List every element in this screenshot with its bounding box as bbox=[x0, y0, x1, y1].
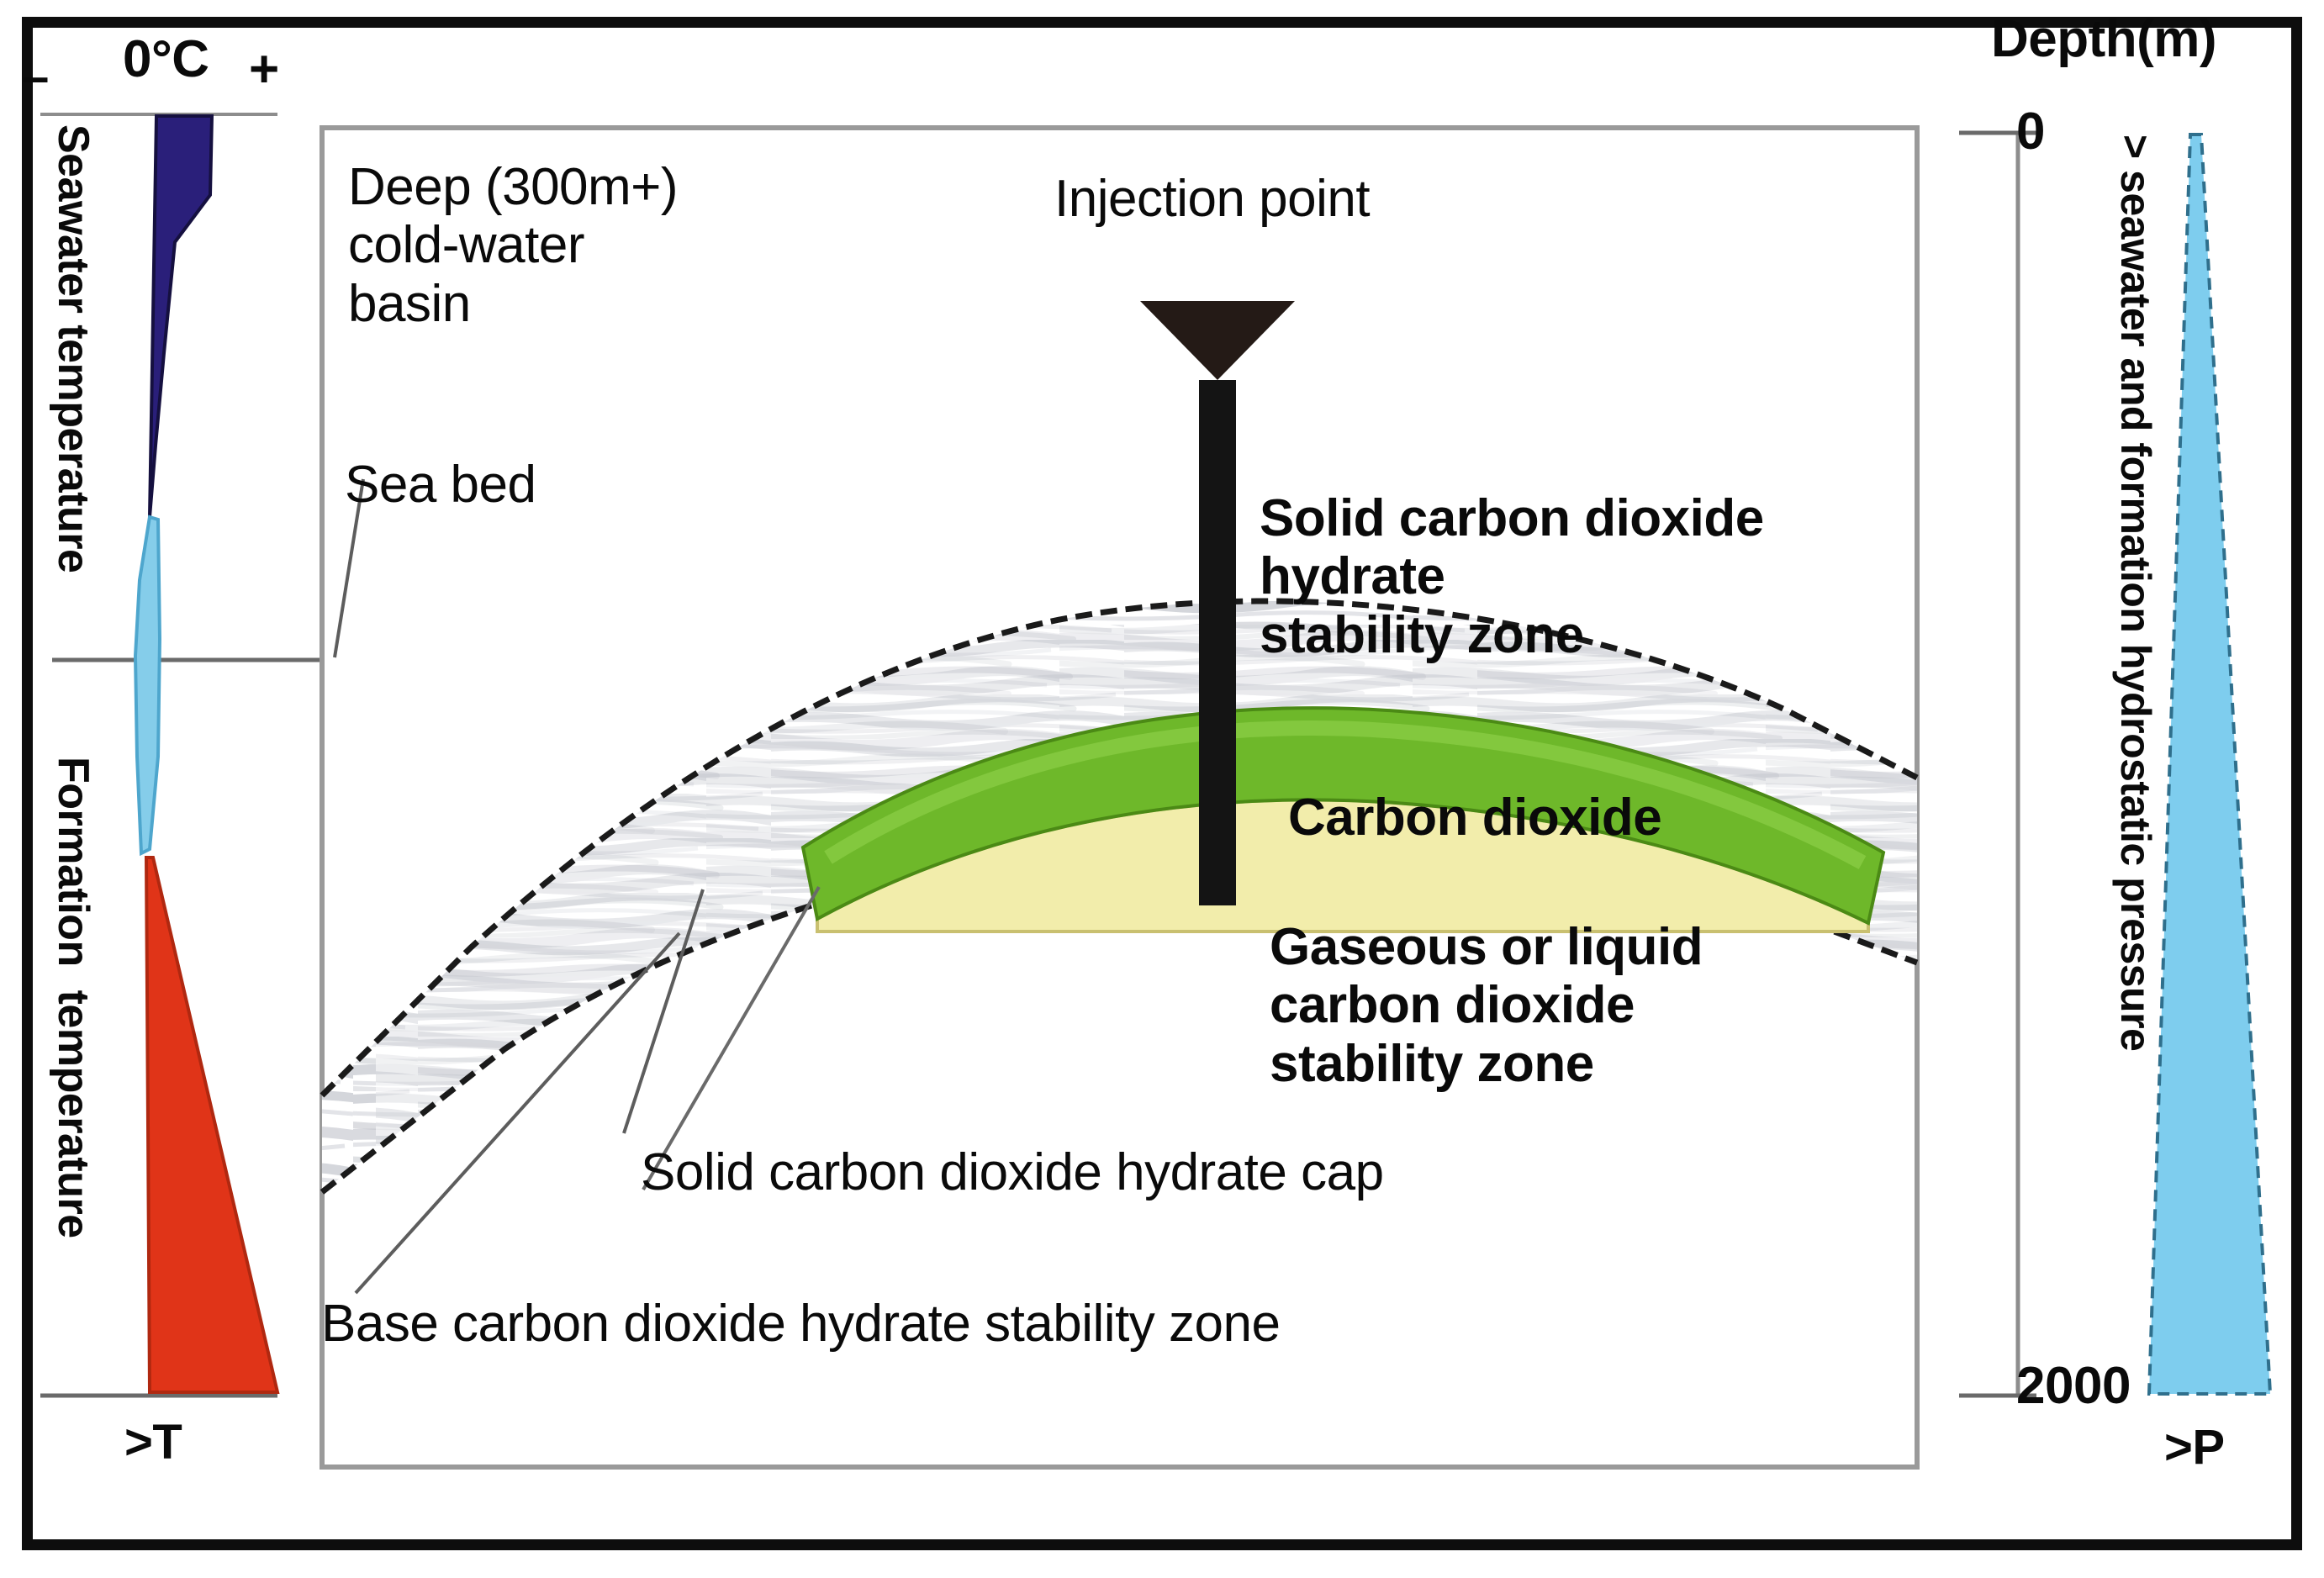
temperature-minus-sign: – bbox=[22, 50, 49, 105]
formation-temperature-axis-label: Formation temperature bbox=[49, 757, 98, 1238]
injection-point-arrow-icon bbox=[1140, 301, 1295, 380]
seawater-temperature-axis-label: Seawater temperature bbox=[49, 124, 98, 573]
deep-cold-water-basin-label: Deep (300m+) cold-water basin bbox=[348, 158, 678, 333]
hydrostatic-pressure-axis-label: > seawater and formation hydrostatic pre… bbox=[2112, 135, 2159, 1051]
hydrostatic-pressure-wedge bbox=[2149, 135, 2270, 1394]
depth-axis-header: Depth(m) bbox=[1991, 10, 2216, 68]
carbon-dioxide-label: Carbon dioxide bbox=[1288, 789, 1661, 847]
gaseous-liquid-stability-zone-label: Gaseous or liquid carbon dioxide stabili… bbox=[1270, 918, 1703, 1093]
injection-point-label: Injection point bbox=[1054, 170, 1370, 228]
pressure-gt-label: >P bbox=[2164, 1421, 2225, 1475]
base-hydrate-stability-zone-label: Base carbon dioxide hydrate stability zo… bbox=[321, 1295, 1280, 1353]
sea-bed-label: Sea bed bbox=[345, 456, 536, 514]
depth-tick-label-0: 0 bbox=[2016, 103, 2045, 161]
seawater-cold-temperature-curve bbox=[135, 517, 160, 853]
temperature-gt-label: >T bbox=[124, 1416, 182, 1470]
depth-tick-label-2000: 2000 bbox=[2016, 1357, 2131, 1415]
figure-root: – 0°C + Seawater temperature Formation t… bbox=[0, 0, 2324, 1578]
solid-hydrate-stability-zone-label: Solid carbon dioxide hydrate stability z… bbox=[1260, 489, 1764, 664]
temperature-zero-label: 0°C bbox=[123, 30, 209, 88]
temperature-plus-sign: + bbox=[249, 40, 279, 98]
solid-hydrate-cap-label: Solid carbon dioxide hydrate cap bbox=[641, 1143, 1384, 1201]
formation-temperature-curve bbox=[146, 858, 277, 1392]
seawater-warm-temperature-curve bbox=[150, 116, 212, 517]
injection-well-bore bbox=[1199, 380, 1236, 905]
